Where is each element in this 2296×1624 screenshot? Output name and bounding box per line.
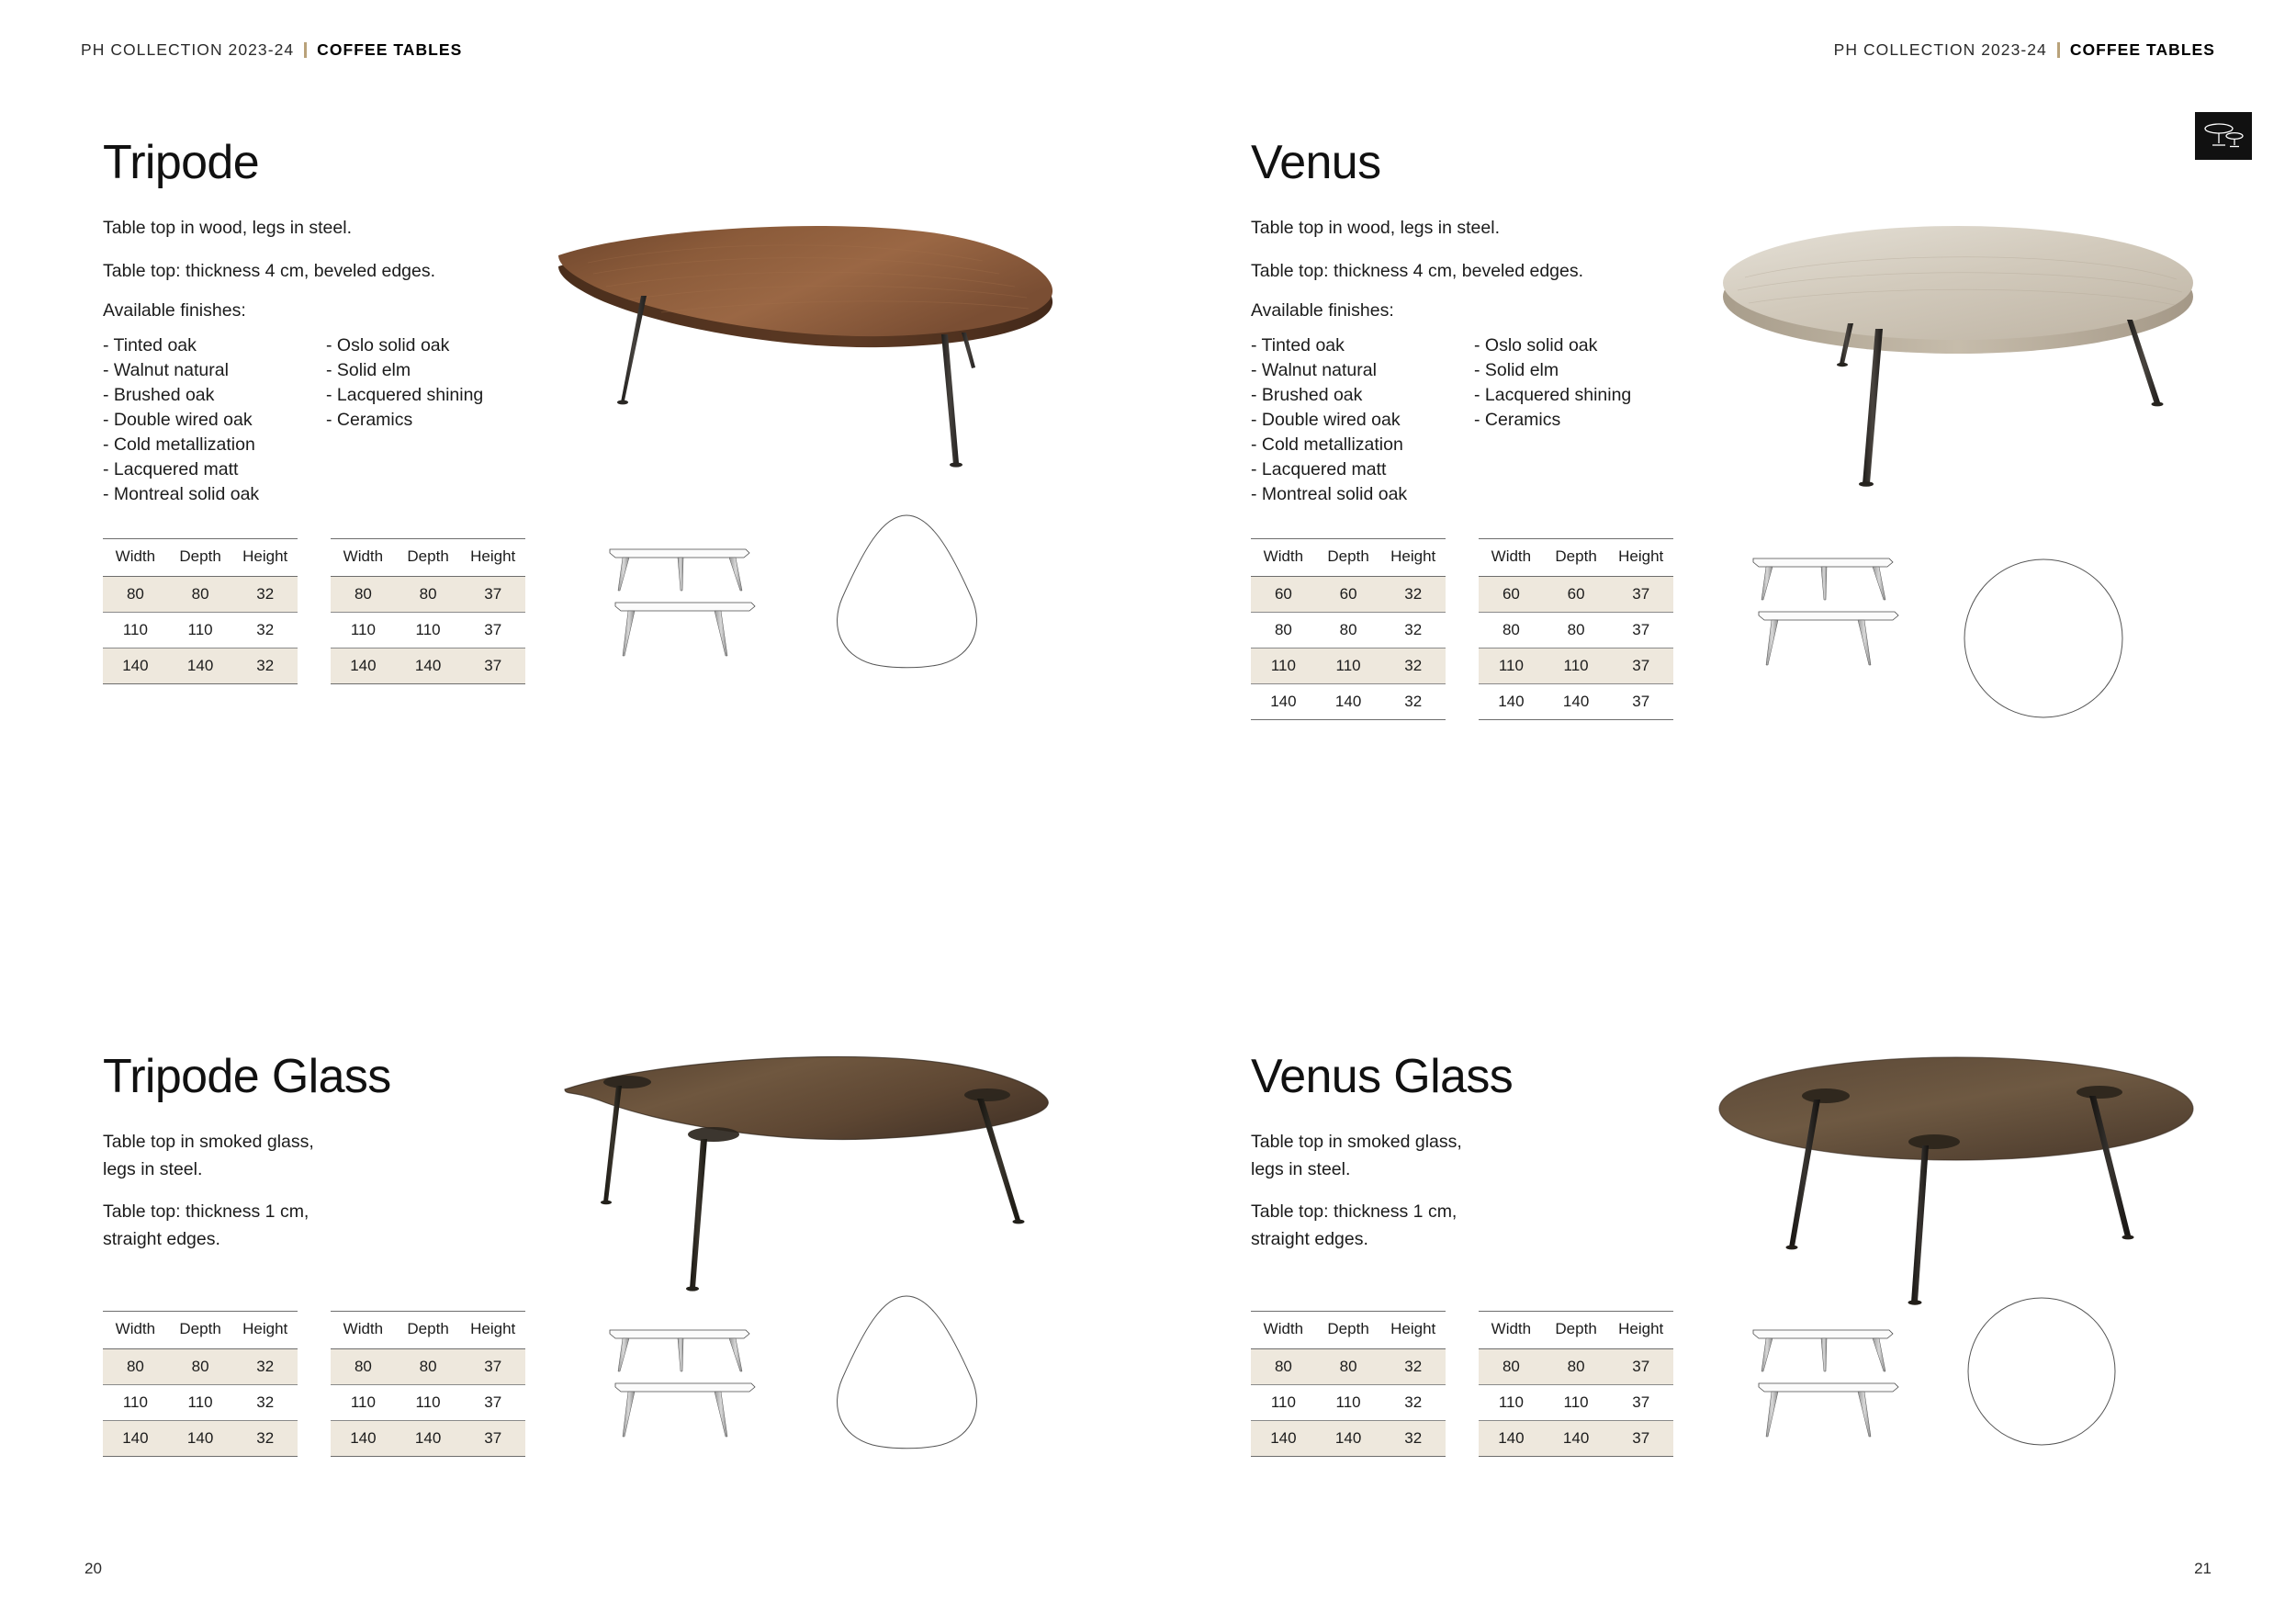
product-description-2: Table top: thickness 1 cm, straight edge… [103,1199,580,1253]
cell-height: 37 [1608,1420,1673,1456]
product-photo-tripode-glass [556,1047,1061,1314]
column-header-width: Width [1479,1311,1544,1348]
cell-width: 110 [103,612,168,648]
cell-width: 80 [331,1348,396,1384]
cell-height: 32 [232,612,298,648]
column-header-height: Height [1380,538,1446,576]
cell-width: 80 [1251,1348,1316,1384]
column-header-depth: Depth [396,538,461,576]
finish-item: - Lacquered shining [326,383,549,408]
finish-item: - Montreal solid oak [103,482,326,507]
finishes-column-1: - Tinted oak - Walnut natural - Brushed … [103,333,326,506]
cell-height: 32 [232,1348,298,1384]
cell-height: 32 [1380,648,1446,683]
cell-height: 37 [460,612,525,648]
finish-item: - Walnut natural [103,358,326,383]
cell-width: 80 [103,576,168,612]
table-row: 140 140 32 [1251,1420,1446,1456]
cell-depth: 60 [1544,576,1609,612]
product-title: Tripode [103,138,1131,187]
product-photo-venus-glass [1716,1052,2212,1318]
cell-depth: 140 [1316,683,1381,719]
cell-depth: 140 [168,1420,233,1456]
dimension-table-b: Width Depth Height 80 80 37 110 110 [1479,1311,1673,1457]
finish-item: - Ceramics [326,408,549,433]
column-header-depth: Depth [1544,1311,1609,1348]
running-header-right: PH COLLECTION 2023-24 COFFEE TABLES [1834,40,2215,60]
table-row: 140 140 32 [103,648,298,683]
dimension-table-b: Width Depth Height 80 80 37 110 110 [331,538,525,684]
finish-item: - Cold metallization [1251,433,1474,457]
cell-height: 37 [1608,1348,1673,1384]
cell-depth: 110 [396,612,461,648]
column-header-depth: Depth [168,538,233,576]
cell-height: 37 [460,1348,525,1384]
column-header-width: Width [103,1311,168,1348]
finishes-column-2: - Oslo solid oak - Solid elm - Lacquered… [1474,333,1697,506]
finish-item: - Lacquered matt [1251,457,1474,482]
cell-depth: 110 [168,1384,233,1420]
column-header-height: Height [1380,1311,1446,1348]
finish-item: - Ceramics [1474,408,1697,433]
table-row: 140 140 37 [1479,1420,1673,1456]
cell-width: 110 [1479,648,1544,683]
table-row: 110 110 32 [1251,1384,1446,1420]
table-row: 80 80 37 [1479,1348,1673,1384]
column-header-width: Width [331,1311,396,1348]
cell-depth: 110 [1316,1384,1381,1420]
cell-height: 37 [460,576,525,612]
table-row: 140 140 37 [1479,683,1673,719]
product-description-1: Table top in smoked glass, legs in steel… [103,1129,580,1183]
table-row: 110 110 37 [331,1384,525,1420]
table-row: 80 80 32 [1251,1348,1446,1384]
table-row: 80 80 37 [331,576,525,612]
column-header-depth: Depth [1316,1311,1381,1348]
table-row: 80 80 32 [103,1348,298,1384]
finish-item: - Double wired oak [103,408,326,433]
cell-width: 110 [1251,1384,1316,1420]
column-header-depth: Depth [1316,538,1381,576]
finish-item: - Solid elm [326,358,549,383]
cell-width: 140 [1251,683,1316,719]
finish-item: - Oslo solid oak [1474,333,1697,358]
cell-height: 37 [460,648,525,683]
column-header-height: Height [460,538,525,576]
cell-width: 80 [1479,612,1544,648]
page-left: PH COLLECTION 2023-24 COFFEE TABLES Trip… [0,0,1148,1624]
technical-drawing-tripode-plan [822,510,992,675]
cell-width: 110 [1251,648,1316,683]
table-row: 60 60 37 [1479,576,1673,612]
dimension-table-a: Width Depth Height 80 80 32 110 110 [1251,1311,1446,1457]
table-row: 110 110 32 [1251,648,1446,683]
finish-item: - Tinted oak [1251,333,1474,358]
cell-width: 60 [1479,576,1544,612]
cell-depth: 140 [396,648,461,683]
cell-height: 32 [232,1384,298,1420]
table-row: 140 140 37 [331,648,525,683]
finish-item: - Walnut natural [1251,358,1474,383]
column-header-depth: Depth [1544,538,1609,576]
column-header-depth: Depth [168,1311,233,1348]
cell-width: 140 [1479,1420,1544,1456]
column-header-width: Width [1251,1311,1316,1348]
table-row: 80 80 37 [1479,612,1673,648]
cell-height: 32 [232,648,298,683]
technical-drawing-venus-elevation [1750,551,1933,689]
cell-width: 60 [1251,576,1316,612]
technical-drawing-tripode-glass-elevation [606,1323,790,1460]
finish-item: - Cold metallization [103,433,326,457]
finishes-column-2: - Oslo solid oak - Solid elm - Lacquered… [326,333,549,506]
cell-depth: 60 [1316,576,1381,612]
cell-height: 37 [1608,576,1673,612]
product-description-1: Table top in smoked glass, legs in steel… [1251,1129,1728,1183]
finish-item: - Brushed oak [103,383,326,408]
cell-height: 32 [232,1420,298,1456]
cell-width: 80 [331,576,396,612]
cell-width: 140 [331,648,396,683]
cell-depth: 140 [396,1420,461,1456]
finish-item: - Lacquered matt [103,457,326,482]
cell-height: 37 [1608,1384,1673,1420]
cell-width: 140 [103,648,168,683]
table-row: 80 80 37 [331,1348,525,1384]
header-collection: PH COLLECTION 2023-24 [1834,40,2047,60]
running-header-left: PH COLLECTION 2023-24 COFFEE TABLES [81,40,462,60]
column-header-width: Width [1479,538,1544,576]
header-category: COFFEE TABLES [317,40,462,60]
cell-height: 32 [1380,612,1446,648]
cell-height: 37 [460,1420,525,1456]
cell-depth: 110 [396,1384,461,1420]
product-title: Venus [1251,138,2279,187]
product-description-2: Table top: thickness 4 cm, beveled edges… [103,258,580,286]
finishes-column-1: - Tinted oak - Walnut natural - Brushed … [1251,333,1474,506]
product-description-1: Table top in wood, legs in steel. [103,215,580,242]
product-description-2: Table top: thickness 4 cm, beveled edges… [1251,258,1728,286]
cell-depth: 80 [396,576,461,612]
cell-depth: 110 [1544,1384,1609,1420]
cell-depth: 110 [168,612,233,648]
cell-width: 140 [103,1420,168,1456]
cell-height: 32 [1380,1384,1446,1420]
header-separator [304,42,307,58]
column-header-width: Width [1251,538,1316,576]
cell-width: 110 [103,1384,168,1420]
cell-depth: 80 [168,576,233,612]
header-collection: PH COLLECTION 2023-24 [81,40,294,60]
cell-width: 140 [331,1420,396,1456]
cell-depth: 140 [1544,1420,1609,1456]
table-row: 110 110 37 [1479,1384,1673,1420]
column-header-height: Height [232,1311,298,1348]
cell-depth: 140 [168,648,233,683]
cell-width: 110 [331,1384,396,1420]
cell-depth: 80 [1316,1348,1381,1384]
finish-item: - Tinted oak [103,333,326,358]
cell-height: 37 [1608,648,1673,683]
column-header-height: Height [232,538,298,576]
table-row: 110 110 32 [103,612,298,648]
technical-drawing-tripode-glass-plan [822,1291,992,1456]
finish-item: - Montreal solid oak [1251,482,1474,507]
cell-width: 140 [1479,683,1544,719]
cell-depth: 110 [1316,648,1381,683]
cell-depth: 80 [1316,612,1381,648]
cell-width: 110 [1479,1384,1544,1420]
table-row: 110 110 37 [331,612,525,648]
table-row: 110 110 32 [103,1384,298,1420]
table-row: 140 140 37 [331,1420,525,1456]
cell-height: 32 [1380,1420,1446,1456]
dimension-table-a: Width Depth Height 80 80 32 110 110 [103,1311,298,1457]
cell-height: 37 [460,1384,525,1420]
header-separator [2057,42,2060,58]
table-row: 140 140 32 [103,1420,298,1456]
column-header-depth: Depth [396,1311,461,1348]
table-row: 110 110 37 [1479,648,1673,683]
finish-item: - Oslo solid oak [326,333,549,358]
cell-width: 80 [1479,1348,1544,1384]
dimension-table-b: Width Depth Height 80 80 37 110 110 [331,1311,525,1457]
page-number-left: 20 [84,1560,102,1578]
product-photo-tripode [551,220,1065,496]
column-header-width: Width [331,538,396,576]
column-header-height: Height [1608,538,1673,576]
product-photo-venus [1717,211,2204,514]
catalog-spread: PH COLLECTION 2023-24 COFFEE TABLES Trip… [0,0,2296,1624]
dimension-table-a: Width Depth Height 60 60 32 80 80 [1251,538,1446,720]
technical-drawing-tripode-elevation [606,542,790,680]
cell-height: 37 [1608,683,1673,719]
cell-width: 80 [1251,612,1316,648]
column-header-height: Height [460,1311,525,1348]
technical-drawing-venus-glass-plan [1964,1293,2120,1449]
product-description-2: Table top: thickness 1 cm, straight edge… [1251,1199,1728,1253]
table-row: 60 60 32 [1251,576,1446,612]
cell-depth: 110 [1544,648,1609,683]
cell-width: 140 [1251,1420,1316,1456]
product-description-1: Table top in wood, legs in steel. [1251,215,1728,242]
cell-depth: 140 [1316,1420,1381,1456]
cell-height: 32 [1380,683,1446,719]
dimension-table-a: Width Depth Height 80 80 32 110 110 [103,538,298,684]
cell-depth: 80 [396,1348,461,1384]
cell-depth: 80 [168,1348,233,1384]
cell-depth: 80 [1544,1348,1609,1384]
page-right: PH COLLECTION 2023-24 COFFEE TABLES Venu… [1148,0,2296,1624]
header-category: COFFEE TABLES [2070,40,2215,60]
cell-height: 37 [1608,612,1673,648]
cell-depth: 80 [1544,612,1609,648]
cell-depth: 140 [1544,683,1609,719]
column-header-width: Width [103,538,168,576]
column-header-height: Height [1608,1311,1673,1348]
cell-height: 32 [1380,576,1446,612]
finish-item: - Brushed oak [1251,383,1474,408]
finish-item: - Lacquered shining [1474,383,1697,408]
table-row: 80 80 32 [103,576,298,612]
dimension-table-b: Width Depth Height 60 60 37 80 80 [1479,538,1673,720]
table-row: 80 80 32 [1251,612,1446,648]
finish-item: - Solid elm [1474,358,1697,383]
finish-item: - Double wired oak [1251,408,1474,433]
table-row: 140 140 32 [1251,683,1446,719]
cell-height: 32 [232,576,298,612]
page-number-right: 21 [2194,1560,2212,1578]
cell-width: 110 [331,612,396,648]
technical-drawing-venus-glass-elevation [1750,1323,1933,1460]
technical-drawing-venus-plan [1961,556,2126,721]
cell-height: 32 [1380,1348,1446,1384]
cell-width: 80 [103,1348,168,1384]
